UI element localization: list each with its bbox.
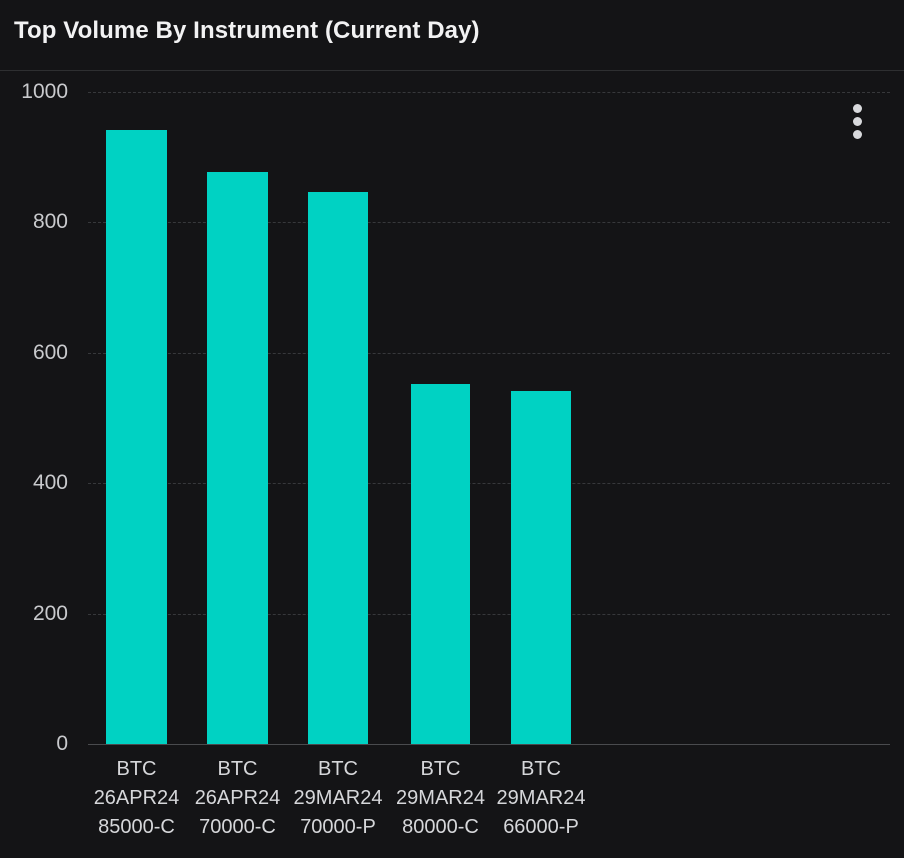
menu-dot-3	[853, 130, 862, 139]
bar[interactable]	[511, 391, 571, 744]
page-title: Top Volume By Instrument (Current Day)	[14, 17, 480, 45]
bar[interactable]	[308, 192, 368, 744]
x-axis-line	[88, 744, 890, 745]
chart-widget: Top Volume By Instrument (Current Day) 0…	[0, 0, 904, 858]
y-axis-tick-label: 600	[0, 341, 68, 365]
y-axis-tick-label: 400	[0, 471, 68, 495]
vertical-dots-menu-icon[interactable]	[848, 101, 868, 143]
gridline	[88, 92, 890, 93]
y-axis-tick-label: 200	[0, 602, 68, 626]
menu-dot-1	[853, 104, 862, 113]
x-axis-category-label: BTC29MAR2466000-P	[451, 755, 631, 842]
bar[interactable]	[106, 130, 167, 744]
y-axis-tick-label: 800	[0, 210, 68, 234]
x-axis-category-line: 29MAR24	[451, 784, 631, 813]
y-axis-tick-label: 1000	[0, 80, 68, 104]
plot-area: 02004006008001000 BTC26APR2485000-CBTC26…	[0, 71, 904, 858]
y-axis-tick-label: 0	[0, 732, 68, 756]
x-axis-category-line: 66000-P	[451, 813, 631, 842]
menu-dot-2	[853, 117, 862, 126]
bar[interactable]	[411, 384, 470, 744]
chart-header: Top Volume By Instrument (Current Day)	[0, 0, 904, 71]
x-axis-category-line: BTC	[451, 755, 631, 784]
bar[interactable]	[207, 172, 268, 744]
